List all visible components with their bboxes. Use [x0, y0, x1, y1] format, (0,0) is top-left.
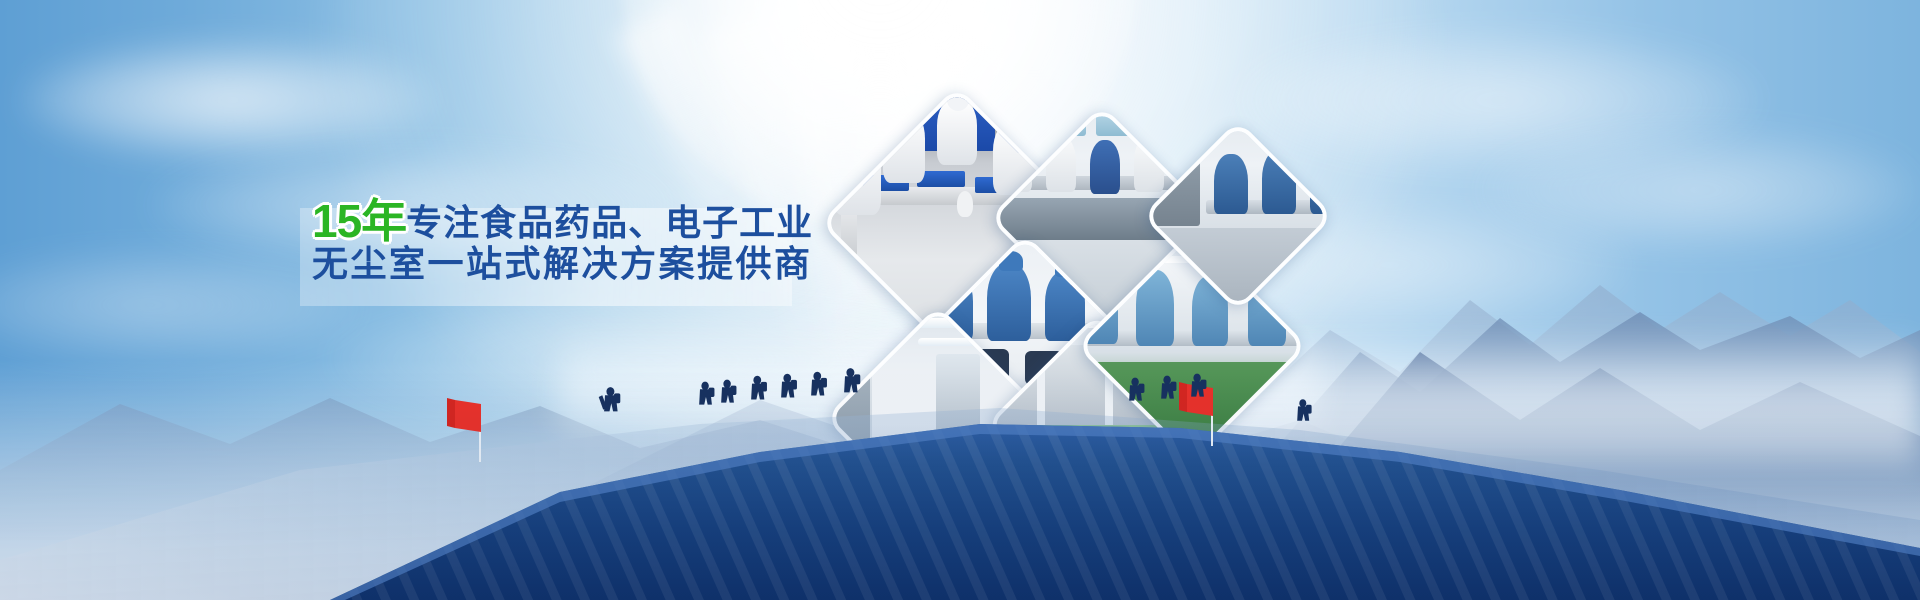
headline-line-2-text: 无尘室一站式解决方案提供商 — [312, 243, 813, 284]
page-title: 15年专注食品药品、电子工业 无尘室一站式解决方案提供商 — [312, 198, 804, 292]
headline-line-1: 15年专注食品药品、电子工业 — [312, 198, 804, 245]
ridge-shadow — [0, 370, 1920, 600]
headline-years: 15年 — [312, 195, 406, 247]
hero-banner: 15年专注食品药品、电子工业 无尘室一站式解决方案提供商 — [0, 0, 1920, 600]
headline-line-2: 无尘室一站式解决方案提供商 — [312, 245, 804, 292]
headline-line-1-rest: 专注食品药品、电子工业 — [406, 202, 813, 243]
